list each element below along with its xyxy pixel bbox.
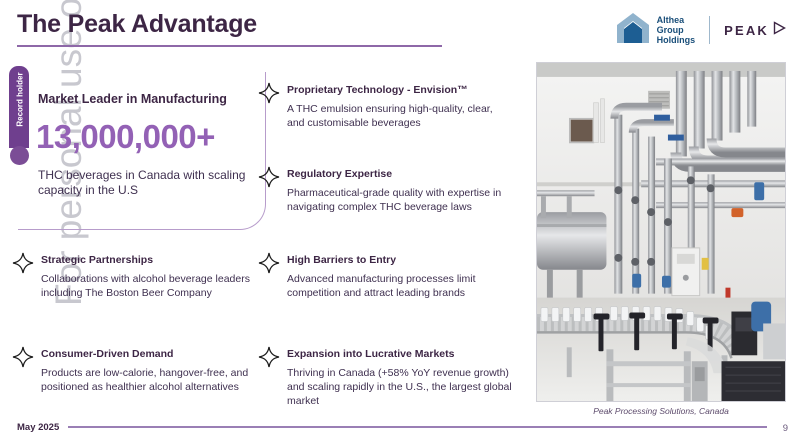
- photo-caption: Peak Processing Solutions, Canada: [536, 406, 786, 416]
- sparkle-icon: [12, 346, 34, 373]
- althea-mountain-icon: [615, 11, 651, 50]
- peak-logo-text: PEAK: [724, 23, 769, 38]
- peak-triangle-icon: [773, 21, 786, 40]
- feature-item-barriers: High Barriers to Entry Advanced manufact…: [258, 254, 506, 300]
- feature-title: High Barriers to Entry: [287, 254, 506, 266]
- feature-title: Expansion into Lucrative Markets: [287, 348, 516, 360]
- record-holder-label: Record holder: [16, 64, 25, 136]
- feature-description: Products are low-calorie, hangover-free,…: [41, 366, 260, 394]
- peak-logo: PEAK: [724, 21, 786, 40]
- facility-photo-illustration: [537, 63, 785, 401]
- card-big-number: 13,000,000+: [36, 118, 215, 156]
- sparkle-icon: [12, 252, 34, 279]
- feature-description: Pharmaceutical-grade quality with expert…: [287, 186, 516, 214]
- sparkle-icon: [258, 166, 280, 193]
- sparkle-icon: [258, 346, 280, 373]
- feature-description: Advanced manufacturing processes limit c…: [287, 272, 506, 300]
- page-title: The Peak Advantage: [17, 10, 257, 39]
- title-underline-rule: [17, 45, 442, 47]
- feature-title: Strategic Partnerships: [41, 254, 250, 266]
- feature-description: Collaborations with alcohol beverage lea…: [41, 272, 250, 300]
- feature-item-proprietary: Proprietary Technology - Envision™ A THC…: [258, 84, 508, 130]
- card-heading: Market Leader in Manufacturing: [38, 92, 227, 106]
- feature-description: A THC emulsion ensuring high-quality, cl…: [287, 102, 508, 130]
- record-holder-pin: Record holder: [9, 66, 29, 148]
- althea-logo-text: Althea Group Holdings: [657, 15, 696, 45]
- sparkle-icon: [258, 82, 280, 109]
- footer-rule: [68, 426, 767, 428]
- logo-zone: Althea Group Holdings PEAK: [615, 10, 786, 50]
- feature-item-consumer: Consumer-Driven Demand Products are low-…: [12, 348, 260, 394]
- feature-description: Thriving in Canada (+58% YoY revenue gro…: [287, 366, 516, 408]
- record-holder-dot: [10, 146, 29, 165]
- feature-title: Consumer-Driven Demand: [41, 348, 260, 360]
- feature-item-regulatory: Regulatory Expertise Pharmaceutical-grad…: [258, 168, 516, 214]
- logo-divider: [709, 16, 710, 44]
- feature-item-strategic: Strategic Partnerships Collaborations wi…: [12, 254, 250, 300]
- sparkle-icon: [258, 252, 280, 279]
- feature-title: Regulatory Expertise: [287, 168, 516, 180]
- feature-item-expansion: Expansion into Lucrative Markets Thrivin…: [258, 348, 516, 408]
- althea-group-holdings-logo: Althea Group Holdings: [615, 11, 696, 50]
- card-subtext: THC beverages in Canada with scaling cap…: [38, 168, 253, 198]
- footer-date: May 2025: [17, 422, 59, 433]
- feature-title: Proprietary Technology - Envision™: [287, 84, 508, 96]
- page-number: 9: [783, 423, 788, 434]
- facility-photo: [536, 62, 786, 402]
- highlight-card: Market Leader in Manufacturing 13,000,00…: [18, 72, 266, 230]
